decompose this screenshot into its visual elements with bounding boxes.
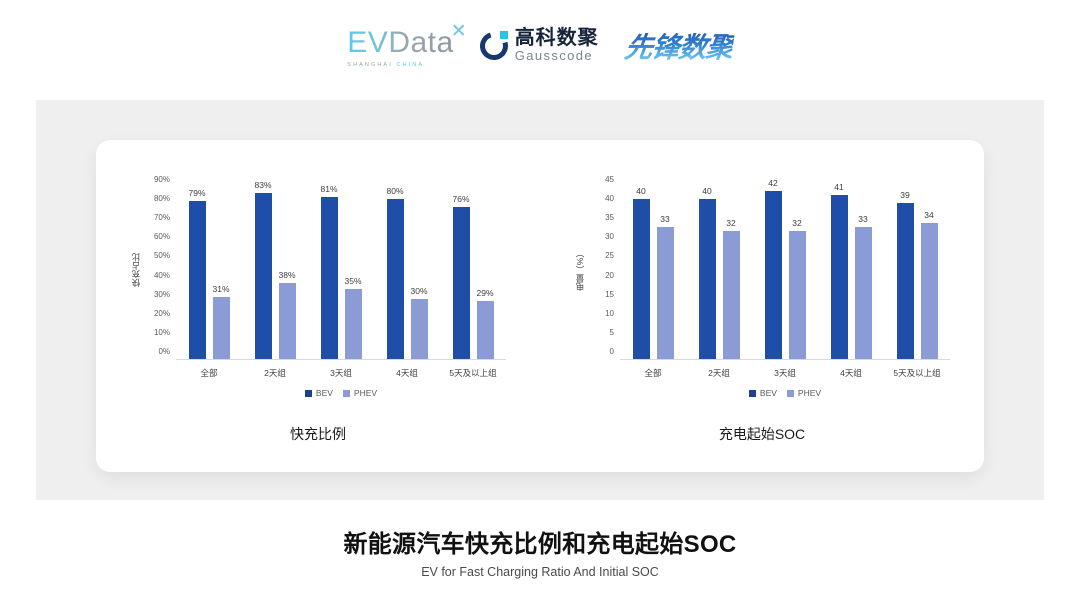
bar-phev: 38% bbox=[279, 283, 296, 359]
legend-label: BEV bbox=[316, 388, 333, 398]
bar-value-label: 80% bbox=[386, 186, 403, 196]
plot-canvas: 40334032423241333934 bbox=[620, 180, 950, 360]
legend-swatch-icon bbox=[787, 390, 794, 397]
y-axis-tick: 80% bbox=[154, 195, 170, 203]
bar-group: 3934 bbox=[884, 180, 950, 359]
bar-group: 4032 bbox=[686, 180, 752, 359]
bar-value-label: 33 bbox=[858, 214, 867, 224]
bar-group: 4033 bbox=[620, 180, 686, 359]
bar-phev: 33 bbox=[657, 227, 674, 359]
bar-bev: 41 bbox=[831, 195, 848, 359]
x-axis-ticks: 全部2天组3天组4天组5天及以上组 bbox=[620, 367, 950, 379]
y-axis-ticks: 90%80%70%60%50%40%30%20%10%0% bbox=[144, 180, 170, 360]
evdata-wordmark: EVData bbox=[347, 28, 453, 58]
evdata-x-icon: ✕ bbox=[451, 20, 467, 43]
bar-value-label: 29% bbox=[476, 288, 493, 298]
chart-block-fast-charging-ratio: 快充占比90%80%70%60%50%40%30%20%10%0%79%31%8… bbox=[96, 140, 540, 472]
x-axis-tick: 4天组 bbox=[818, 367, 884, 379]
y-axis-tick: 60% bbox=[154, 233, 170, 241]
bar-phev: 30% bbox=[411, 299, 428, 359]
y-axis-tick: 25 bbox=[605, 252, 614, 260]
gausscode-name-cn: 高科数聚 bbox=[515, 28, 599, 49]
x-axis-ticks: 全部2天组3天组4天组5天及以上组 bbox=[176, 367, 506, 379]
bar-value-label: 42 bbox=[768, 178, 777, 188]
bar-value-label: 32 bbox=[726, 218, 735, 228]
legend-item-phev[interactable]: PHEV bbox=[343, 388, 377, 398]
bar-value-label: 41 bbox=[834, 182, 843, 192]
gausscode-dot-shape bbox=[500, 31, 508, 39]
legend-label: PHEV bbox=[798, 388, 821, 398]
bar-value-label: 30% bbox=[410, 286, 427, 296]
bar-value-label: 40 bbox=[702, 186, 711, 196]
footer: 新能源汽车快充比例和充电起始SOC EV for Fast Charging R… bbox=[0, 524, 1080, 579]
x-axis-tick: 2天组 bbox=[242, 367, 308, 379]
chart-caption: 充电起始SOC bbox=[540, 424, 984, 444]
bar-value-label: 32 bbox=[792, 218, 801, 228]
x-axis-tick: 3天组 bbox=[752, 367, 818, 379]
bar-group: 4232 bbox=[752, 180, 818, 359]
y-axis-tick: 30% bbox=[154, 291, 170, 299]
plot-canvas: 79%31%83%38%81%35%80%30%76%29% bbox=[176, 180, 506, 360]
y-axis-tick: 5 bbox=[610, 329, 614, 337]
gausscode-name-en: Gausscode bbox=[515, 49, 599, 63]
bar-value-label: 39 bbox=[900, 190, 909, 200]
logo-bar: EVData ✕ SHANGHAI CHINA 高科数聚 Gausscode 先… bbox=[0, 0, 1080, 92]
x-axis-tick: 3天组 bbox=[308, 367, 374, 379]
legend-item-phev[interactable]: PHEV bbox=[787, 388, 821, 398]
bar-group: 81%35% bbox=[308, 180, 374, 359]
plot-area: 电量（%）45403530252015105040334032423241333… bbox=[574, 162, 950, 406]
chart-legend: BEVPHEV bbox=[176, 388, 506, 398]
y-axis-tick: 50% bbox=[154, 252, 170, 260]
bar-group: 83%38% bbox=[242, 180, 308, 359]
bar-bev: 83% bbox=[255, 193, 272, 359]
page-subtitle: EV for Fast Charging Ratio And Initial S… bbox=[0, 565, 1080, 579]
bar-value-label: 83% bbox=[254, 180, 271, 190]
evdata-tagline-city: SHANGHAI bbox=[347, 62, 393, 68]
bar-phev: 32 bbox=[723, 231, 740, 359]
y-axis-ticks: 454035302520151050 bbox=[588, 180, 614, 360]
y-axis-tick: 70% bbox=[154, 214, 170, 222]
y-axis-tick: 15 bbox=[605, 291, 614, 299]
y-axis-tick: 20% bbox=[154, 310, 170, 318]
bar-value-label: 79% bbox=[188, 188, 205, 198]
bar-phev: 31% bbox=[213, 297, 230, 359]
evdata-logo: EVData ✕ SHANGHAI CHINA bbox=[347, 24, 453, 68]
bar-bev: 40 bbox=[699, 199, 716, 359]
bar-value-label: 38% bbox=[278, 270, 295, 280]
bar-group: 80%30% bbox=[374, 180, 440, 359]
bar-groups: 79%31%83%38%81%35%80%30%76%29% bbox=[176, 180, 506, 359]
y-axis-tick: 10 bbox=[605, 310, 614, 318]
charts-card: 快充占比90%80%70%60%50%40%30%20%10%0%79%31%8… bbox=[96, 140, 984, 472]
legend-swatch-icon bbox=[305, 390, 312, 397]
bar-value-label: 34 bbox=[924, 210, 933, 220]
bar-phev: 33 bbox=[855, 227, 872, 359]
legend-swatch-icon bbox=[343, 390, 350, 397]
y-axis-label: 快充占比 bbox=[130, 253, 142, 287]
bar-bev: 39 bbox=[897, 203, 914, 359]
y-axis-tick: 90% bbox=[154, 176, 170, 184]
y-axis-tick: 40% bbox=[154, 272, 170, 280]
y-axis-label: 电量（%） bbox=[574, 249, 586, 291]
bar-groups: 40334032423241333934 bbox=[620, 180, 950, 359]
x-axis-tick: 5天及以上组 bbox=[440, 367, 506, 379]
bar-group: 4133 bbox=[818, 180, 884, 359]
y-axis-tick: 45 bbox=[605, 176, 614, 184]
bar-bev: 40 bbox=[633, 199, 650, 359]
charts-container: 快充占比90%80%70%60%50%40%30%20%10%0%79%31%8… bbox=[96, 140, 984, 472]
y-axis-tick: 20 bbox=[605, 272, 614, 280]
bar-phev: 34 bbox=[921, 223, 938, 359]
gausscode-text: 高科数聚 Gausscode bbox=[515, 28, 599, 63]
legend-item-bev[interactable]: BEV bbox=[749, 388, 777, 398]
chart-legend: BEVPHEV bbox=[620, 388, 950, 398]
x-axis-tick: 全部 bbox=[620, 367, 686, 379]
y-axis-tick: 35 bbox=[605, 214, 614, 222]
bar-value-label: 76% bbox=[452, 194, 469, 204]
y-axis-tick: 0 bbox=[610, 348, 614, 356]
bar-group: 79%31% bbox=[176, 180, 242, 359]
y-axis-tick: 30 bbox=[605, 233, 614, 241]
content-panel: 快充占比90%80%70%60%50%40%30%20%10%0%79%31%8… bbox=[36, 100, 1044, 500]
evdata-tagline-country: CHINA bbox=[396, 62, 424, 68]
page-title: 新能源汽车快充比例和充电起始SOC bbox=[0, 524, 1080, 559]
legend-label: BEV bbox=[760, 388, 777, 398]
plot-area: 快充占比90%80%70%60%50%40%30%20%10%0%79%31%8… bbox=[130, 162, 506, 406]
bar-phev: 29% bbox=[477, 301, 494, 359]
bar-value-label: 40 bbox=[636, 186, 645, 196]
chart-caption: 快充比例 bbox=[96, 424, 540, 444]
y-axis-tick: 40 bbox=[605, 195, 614, 203]
evdata-tagline: SHANGHAI CHINA bbox=[347, 62, 453, 68]
y-axis-tick: 0% bbox=[158, 348, 170, 356]
bar-value-label: 81% bbox=[320, 184, 337, 194]
bar-group: 76%29% bbox=[440, 180, 506, 359]
x-axis-tick: 全部 bbox=[176, 367, 242, 379]
bar-value-label: 33 bbox=[660, 214, 669, 224]
bar-bev: 42 bbox=[765, 191, 782, 359]
bar-bev: 80% bbox=[387, 199, 404, 359]
bar-value-label: 31% bbox=[212, 284, 229, 294]
x-axis-tick: 4天组 bbox=[374, 367, 440, 379]
bar-phev: 35% bbox=[345, 289, 362, 359]
y-axis-tick: 10% bbox=[154, 329, 170, 337]
legend-item-bev[interactable]: BEV bbox=[305, 388, 333, 398]
chart-block-initial-soc: 电量（%）45403530252015105040334032423241333… bbox=[540, 140, 984, 472]
legend-label: PHEV bbox=[354, 388, 377, 398]
x-axis-tick: 5天及以上组 bbox=[884, 367, 950, 379]
x-axis-tick: 2天组 bbox=[686, 367, 752, 379]
bar-bev: 81% bbox=[321, 197, 338, 359]
bar-phev: 32 bbox=[789, 231, 806, 359]
bar-value-label: 35% bbox=[344, 276, 361, 286]
legend-swatch-icon bbox=[749, 390, 756, 397]
xianfeng-logo: 先锋数聚 bbox=[622, 26, 736, 66]
bar-bev: 79% bbox=[189, 201, 206, 359]
bar-bev: 76% bbox=[453, 207, 470, 359]
gausscode-g-icon bbox=[480, 32, 508, 60]
gausscode-logo: 高科数聚 Gausscode bbox=[480, 28, 599, 63]
